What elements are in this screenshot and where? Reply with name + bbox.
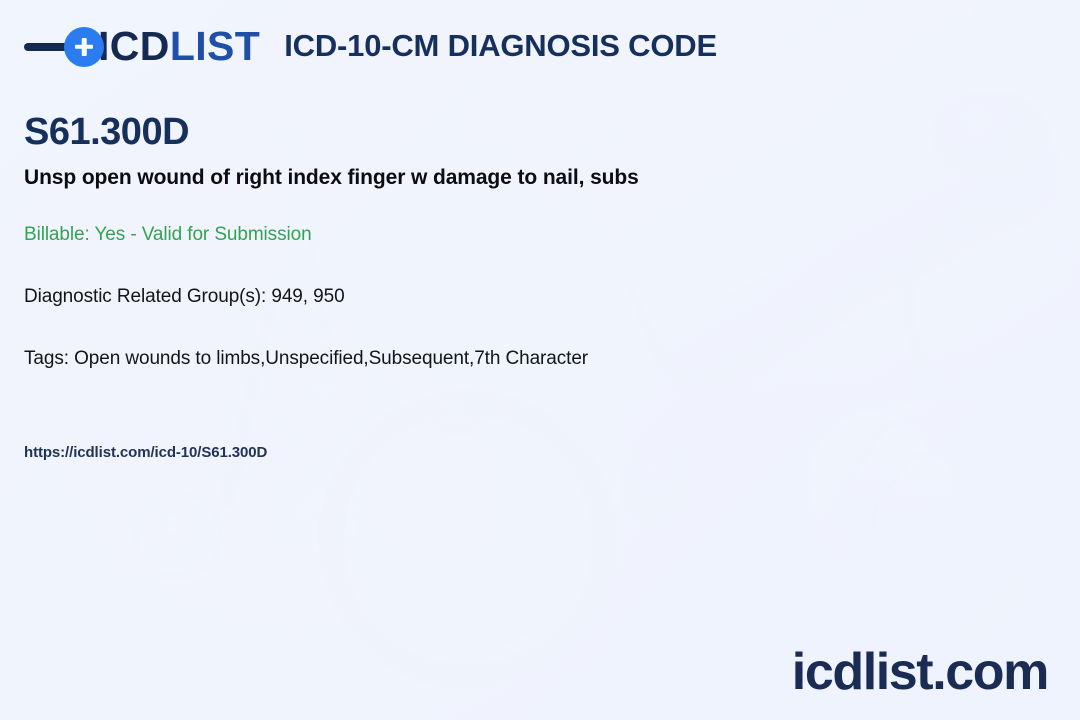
icd-code-card: ICDLIST ICD-10-CM DIAGNOSIS CODE S61.300… <box>0 0 1080 720</box>
header: ICDLIST ICD-10-CM DIAGNOSIS CODE <box>24 26 717 67</box>
plus-icon <box>64 27 104 67</box>
diagnosis-code: S61.300D <box>24 112 189 154</box>
icdlist-logo[interactable]: ICDLIST <box>24 26 260 67</box>
logo-wordmark: ICDLIST <box>98 26 260 67</box>
brand-watermark: icdlist.com <box>792 646 1048 698</box>
dash-icon <box>24 43 68 51</box>
plus-icon-vertical-bar <box>82 38 87 56</box>
diagnosis-description: Unsp open wound of right index finger w … <box>24 166 639 190</box>
page-title: ICD-10-CM DIAGNOSIS CODE <box>284 30 717 63</box>
diagnostic-related-groups: Diagnostic Related Group(s): 949, 950 <box>24 286 345 308</box>
logo-wordmark-list: LIST <box>170 23 260 69</box>
logo-wordmark-icd: ICD <box>98 23 170 69</box>
tags-list: Tags: Open wounds to limbs,Unspecified,S… <box>24 348 588 370</box>
card-content: ICDLIST ICD-10-CM DIAGNOSIS CODE S61.300… <box>0 0 1080 720</box>
billable-status: Billable: Yes - Valid for Submission <box>24 224 312 246</box>
source-url[interactable]: https://icdlist.com/icd-10/S61.300D <box>24 444 267 461</box>
